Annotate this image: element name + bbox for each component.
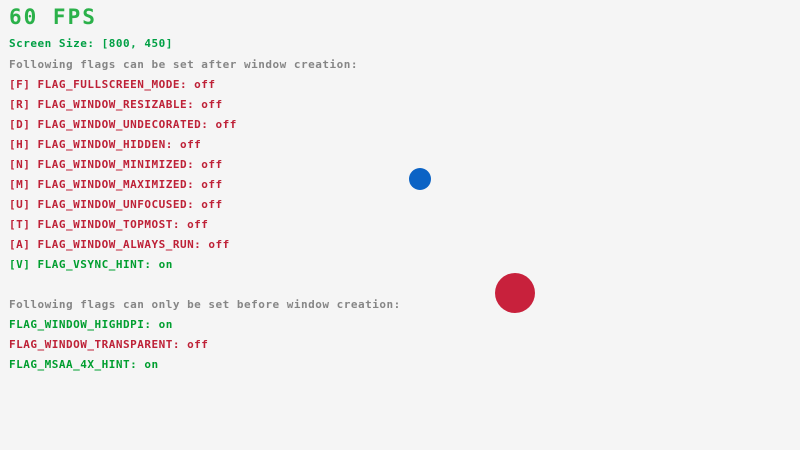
flag-row-window-highdpi: FLAG_WINDOW_HIGHDPI: on	[9, 319, 173, 330]
blue-circle-shape	[409, 168, 431, 190]
runtime-flags-heading: Following flags can be set after window …	[9, 59, 358, 70]
flag-row-window-always-run[interactable]: [A] FLAG_WINDOW_ALWAYS_RUN: off	[9, 239, 230, 250]
flag-row-window-maximized[interactable]: [M] FLAG_WINDOW_MAXIMIZED: off	[9, 179, 223, 190]
flag-row-window-resizable[interactable]: [R] FLAG_WINDOW_RESIZABLE: off	[9, 99, 223, 110]
fps-counter: 60 FPS	[9, 7, 97, 28]
screen-size-label: Screen Size: [800, 450]	[9, 38, 173, 49]
flag-row-window-undecorated[interactable]: [D] FLAG_WINDOW_UNDECORATED: off	[9, 119, 237, 130]
flag-row-window-unfocused[interactable]: [U] FLAG_WINDOW_UNFOCUSED: off	[9, 199, 223, 210]
flag-row-msaa-4x-hint: FLAG_MSAA_4X_HINT: on	[9, 359, 159, 370]
creation-flags-heading: Following flags can only be set before w…	[9, 299, 401, 310]
flag-row-vsync-hint[interactable]: [V] FLAG_VSYNC_HINT: on	[9, 259, 173, 270]
flag-row-window-transparent: FLAG_WINDOW_TRANSPARENT: off	[9, 339, 208, 350]
flag-row-fullscreen-mode[interactable]: [F] FLAG_FULLSCREEN_MODE: off	[9, 79, 216, 90]
flag-row-window-minimized[interactable]: [N] FLAG_WINDOW_MINIMIZED: off	[9, 159, 223, 170]
raylib-window-canvas: 60 FPS Screen Size: [800, 450] Following…	[0, 0, 800, 450]
flag-row-window-topmost[interactable]: [T] FLAG_WINDOW_TOPMOST: off	[9, 219, 208, 230]
flag-row-window-hidden[interactable]: [H] FLAG_WINDOW_HIDDEN: off	[9, 139, 201, 150]
red-circle-shape	[495, 273, 535, 313]
